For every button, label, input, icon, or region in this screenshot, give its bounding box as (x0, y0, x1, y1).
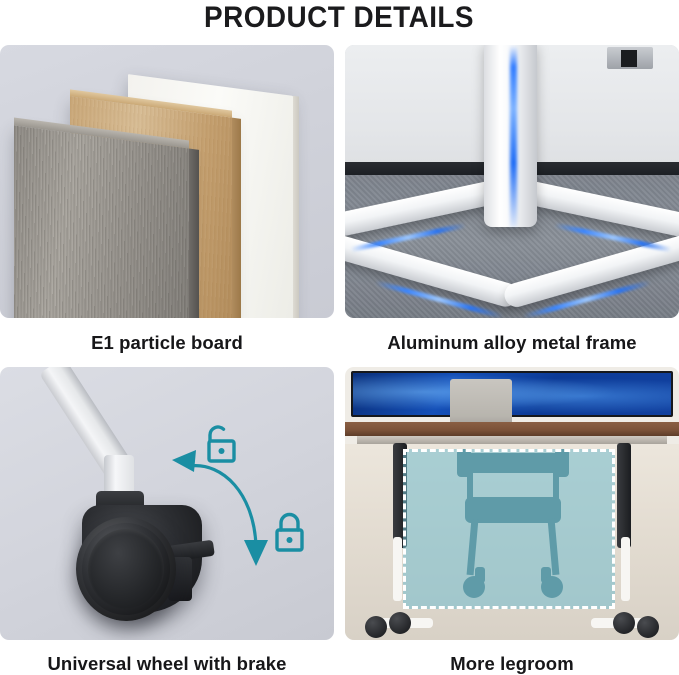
desk-top-surface (345, 422, 679, 436)
curved-double-arrow-icon (168, 436, 288, 576)
legroom-highlight-area (403, 449, 615, 609)
panel-image-metal-frame (345, 45, 679, 318)
caption-universal-wheel: Universal wheel with brake (0, 640, 334, 675)
details-grid: E1 particle board Aluminum alloy metal f… (0, 45, 679, 673)
page-title: PRODUCT DETAILS (23, 1, 654, 35)
caster-wheel-disc (76, 517, 176, 621)
desk-caster (365, 616, 387, 638)
caption-particle-board: E1 particle board (0, 318, 334, 354)
caption-more-legroom: More legroom (345, 640, 679, 675)
desk-caster (613, 612, 635, 634)
gray-board (14, 125, 189, 318)
desk-caster (637, 616, 659, 638)
caption-metal-frame: Aluminum alloy metal frame (345, 318, 679, 354)
wall-socket-plate (607, 47, 653, 69)
desk-vertical-leg-left (393, 537, 402, 601)
detail-card-particle-board: E1 particle board (0, 45, 334, 354)
detail-card-metal-frame: Aluminum alloy metal frame (345, 45, 679, 354)
panel-image-more-legroom (345, 367, 679, 640)
panel-image-particle-board (0, 45, 334, 318)
column-blue-glow (510, 45, 517, 227)
laptop (450, 379, 512, 425)
modesty-panel-right (617, 443, 631, 548)
desk-vertical-leg-right (621, 537, 630, 601)
monitor-screen (351, 371, 673, 417)
detail-card-more-legroom: More legroom (345, 367, 679, 675)
desk-caster (389, 612, 411, 634)
